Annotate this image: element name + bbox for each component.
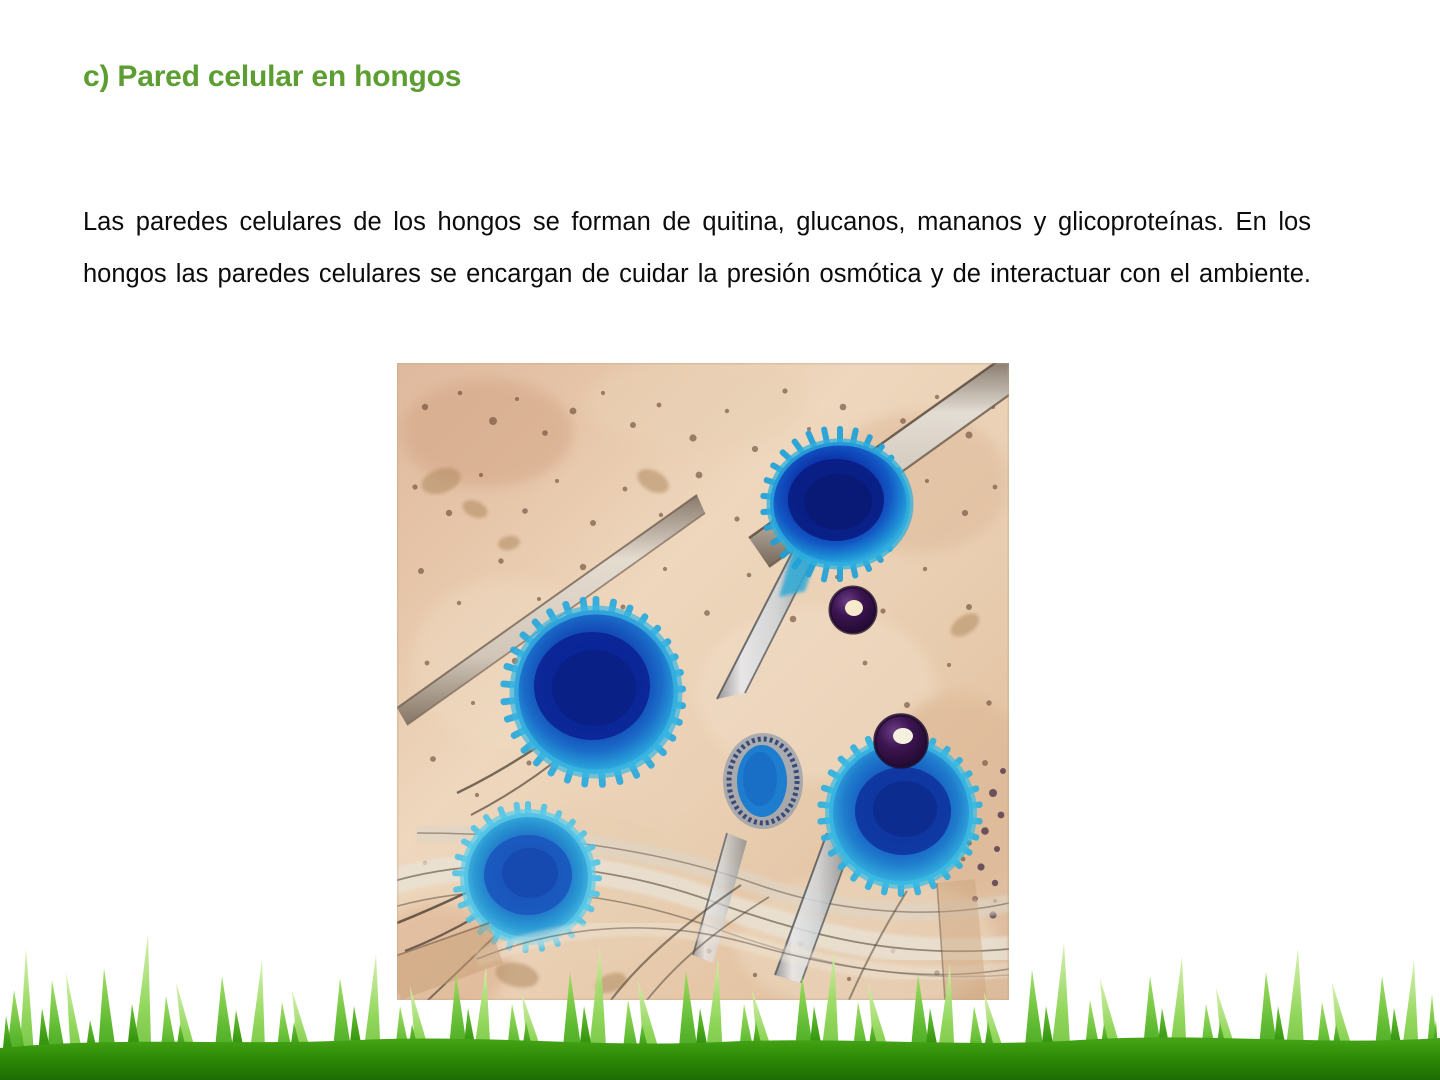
- small-vesicle: [723, 733, 803, 829]
- microscopy-illustration: [397, 363, 1009, 1000]
- page-title: c) Pared celular en hongos: [83, 60, 461, 94]
- microscopy-image: [397, 363, 1009, 1000]
- slide-canvas: c) Pared celular en hongos Las paredes c…: [0, 0, 1440, 1080]
- spore-ball-lower: [875, 715, 927, 767]
- spore-ball-upper: [830, 587, 876, 633]
- body-paragraph: Las paredes celulares de los hongos se f…: [83, 196, 1311, 352]
